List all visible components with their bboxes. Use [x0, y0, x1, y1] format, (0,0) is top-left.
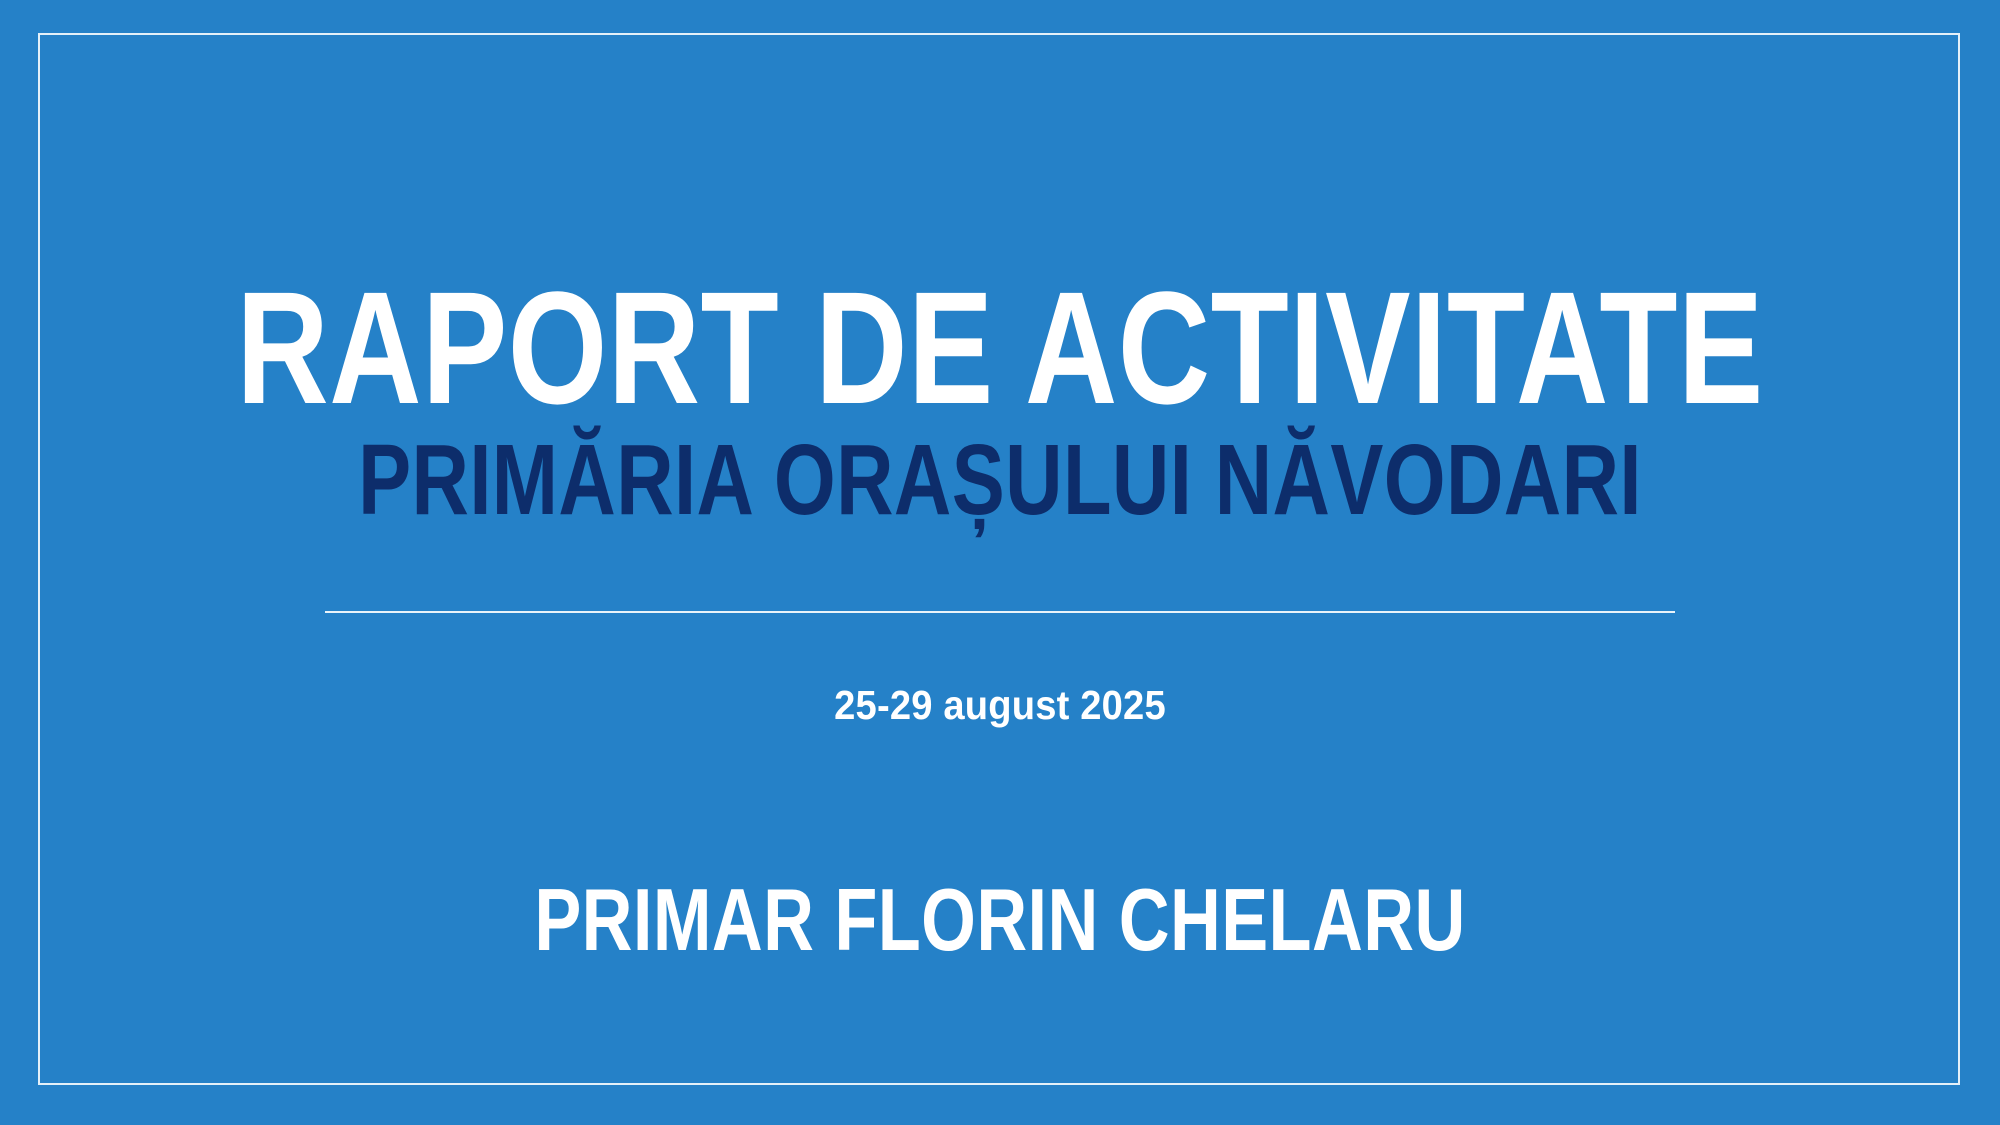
slide-content: RAPORT DE ACTIVITATE PRIMĂRIA ORAȘULUI N…	[0, 0, 2000, 1125]
title-divider-rule	[325, 611, 1675, 613]
slide-date-range: 25-29 august 2025	[70, 685, 1930, 726]
slide-presenter-name: PRIMAR FLORIN CHELARU	[200, 876, 1800, 964]
slide-title: RAPORT DE ACTIVITATE	[200, 268, 1800, 428]
presentation-title-slide: RAPORT DE ACTIVITATE PRIMĂRIA ORAȘULUI N…	[0, 0, 2000, 1125]
slide-subtitle: PRIMĂRIA ORAȘULUI NĂVODARI	[205, 430, 1795, 530]
